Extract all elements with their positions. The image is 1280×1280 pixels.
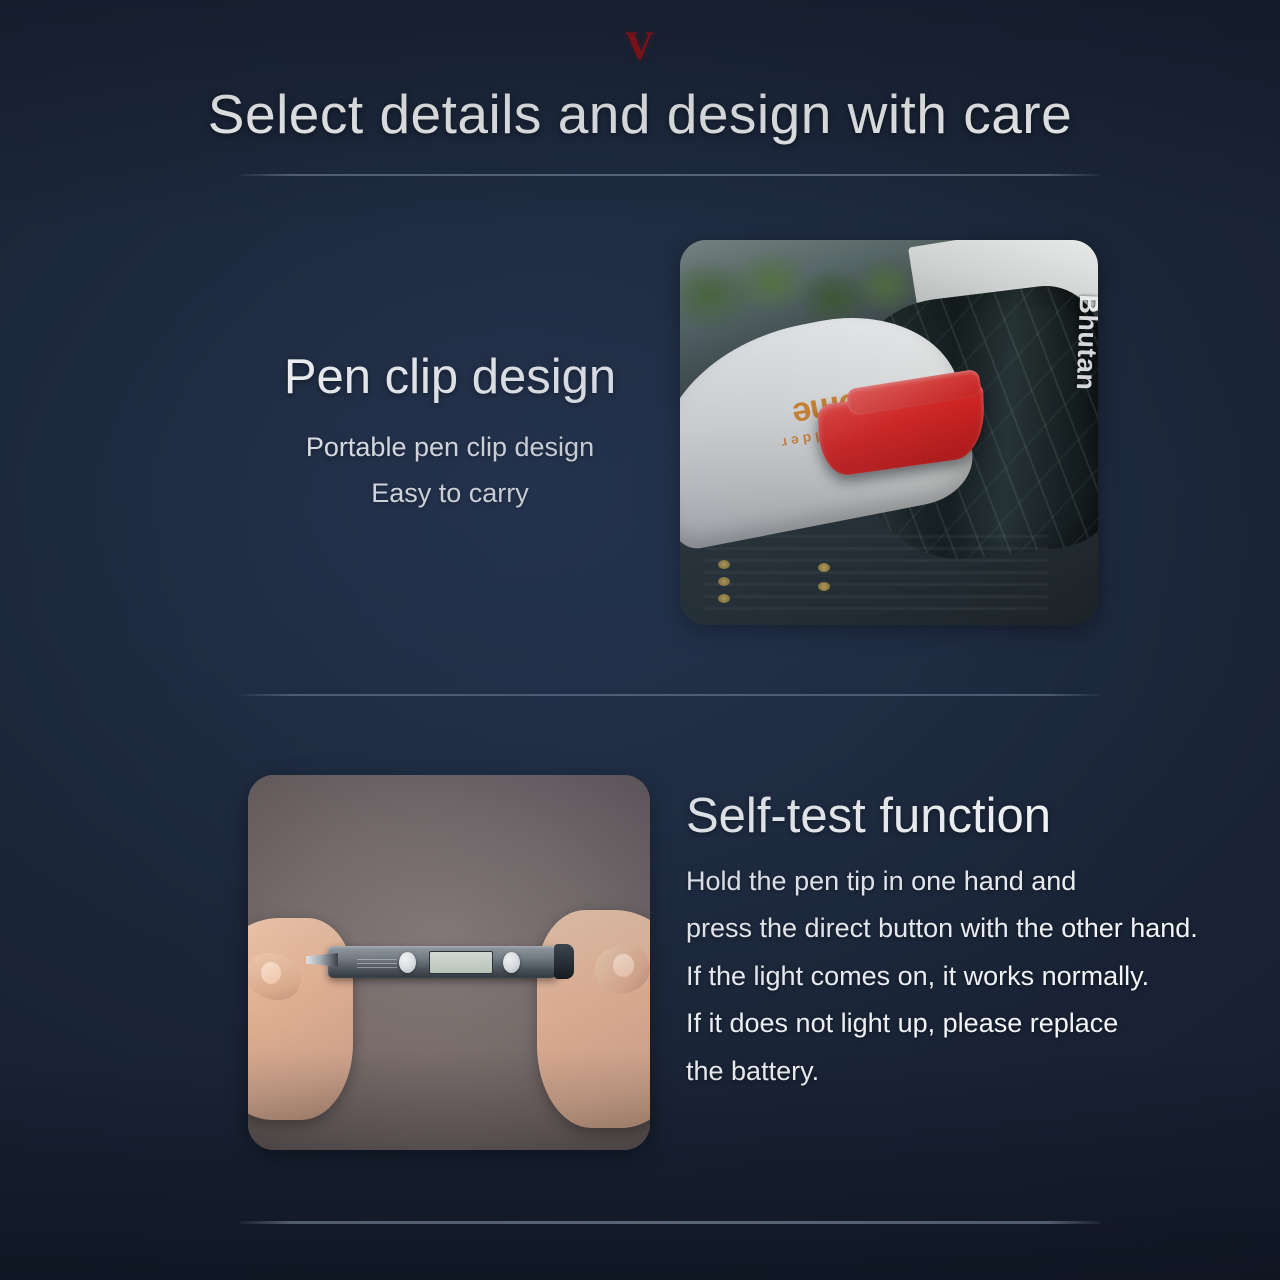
gold-dot	[718, 594, 730, 603]
divider-middle	[240, 694, 1100, 696]
section-self-test-text: Self-test function Hold the pen tip in o…	[686, 790, 1166, 1095]
red-check-mark-icon: V	[0, 26, 1280, 66]
self-test-heading: Self-test function	[686, 790, 1166, 844]
self-test-body-line-4: If it does not light up, please replace	[686, 1000, 1186, 1048]
gold-dot	[718, 560, 730, 569]
self-test-body-line-3: If the light comes on, it works normally…	[686, 953, 1186, 1001]
divider-top	[240, 174, 1100, 176]
divider-bottom	[240, 1221, 1100, 1224]
tester-lcd-screen	[429, 951, 493, 974]
left-thumb-nail	[261, 962, 281, 984]
right-hand	[537, 910, 650, 1128]
pen-clip-subtext-line-1: Portable pen clip design	[250, 424, 650, 470]
pen-clip-subtext-line-2: Easy to carry	[250, 470, 650, 516]
pen-clip-on-magazine-photo: Bhutan householder home	[680, 240, 1098, 625]
tester-end-cap	[554, 944, 574, 980]
page-title: Select details and design with care	[0, 82, 1280, 146]
gold-dot	[818, 563, 830, 572]
self-test-body-line-5: the battery.	[686, 1048, 1186, 1096]
self-test-body: Hold the pen tip in one hand and press t…	[686, 858, 1186, 1096]
gold-dot	[718, 577, 730, 586]
right-thumb-nail	[613, 954, 634, 978]
gold-bullet-dots	[718, 556, 885, 606]
hands-holding-voltage-tester-photo	[248, 775, 650, 1150]
self-test-illustration	[248, 775, 650, 1150]
gold-dot	[818, 582, 830, 591]
tester-button-left	[399, 952, 416, 973]
pen-clip-subtext: Portable pen clip design Easy to carry	[250, 424, 650, 517]
tester-print-marks	[357, 957, 397, 968]
pen-clip-heading: Pen clip design	[250, 352, 650, 404]
section-pen-clip-text: Pen clip design Portable pen clip design…	[250, 352, 650, 517]
self-test-body-line-2: press the direct button with the other h…	[686, 905, 1186, 953]
self-test-body-line-1: Hold the pen tip in one hand and	[686, 858, 1186, 906]
pen-clip-illustration: Bhutan householder home	[680, 240, 1098, 625]
